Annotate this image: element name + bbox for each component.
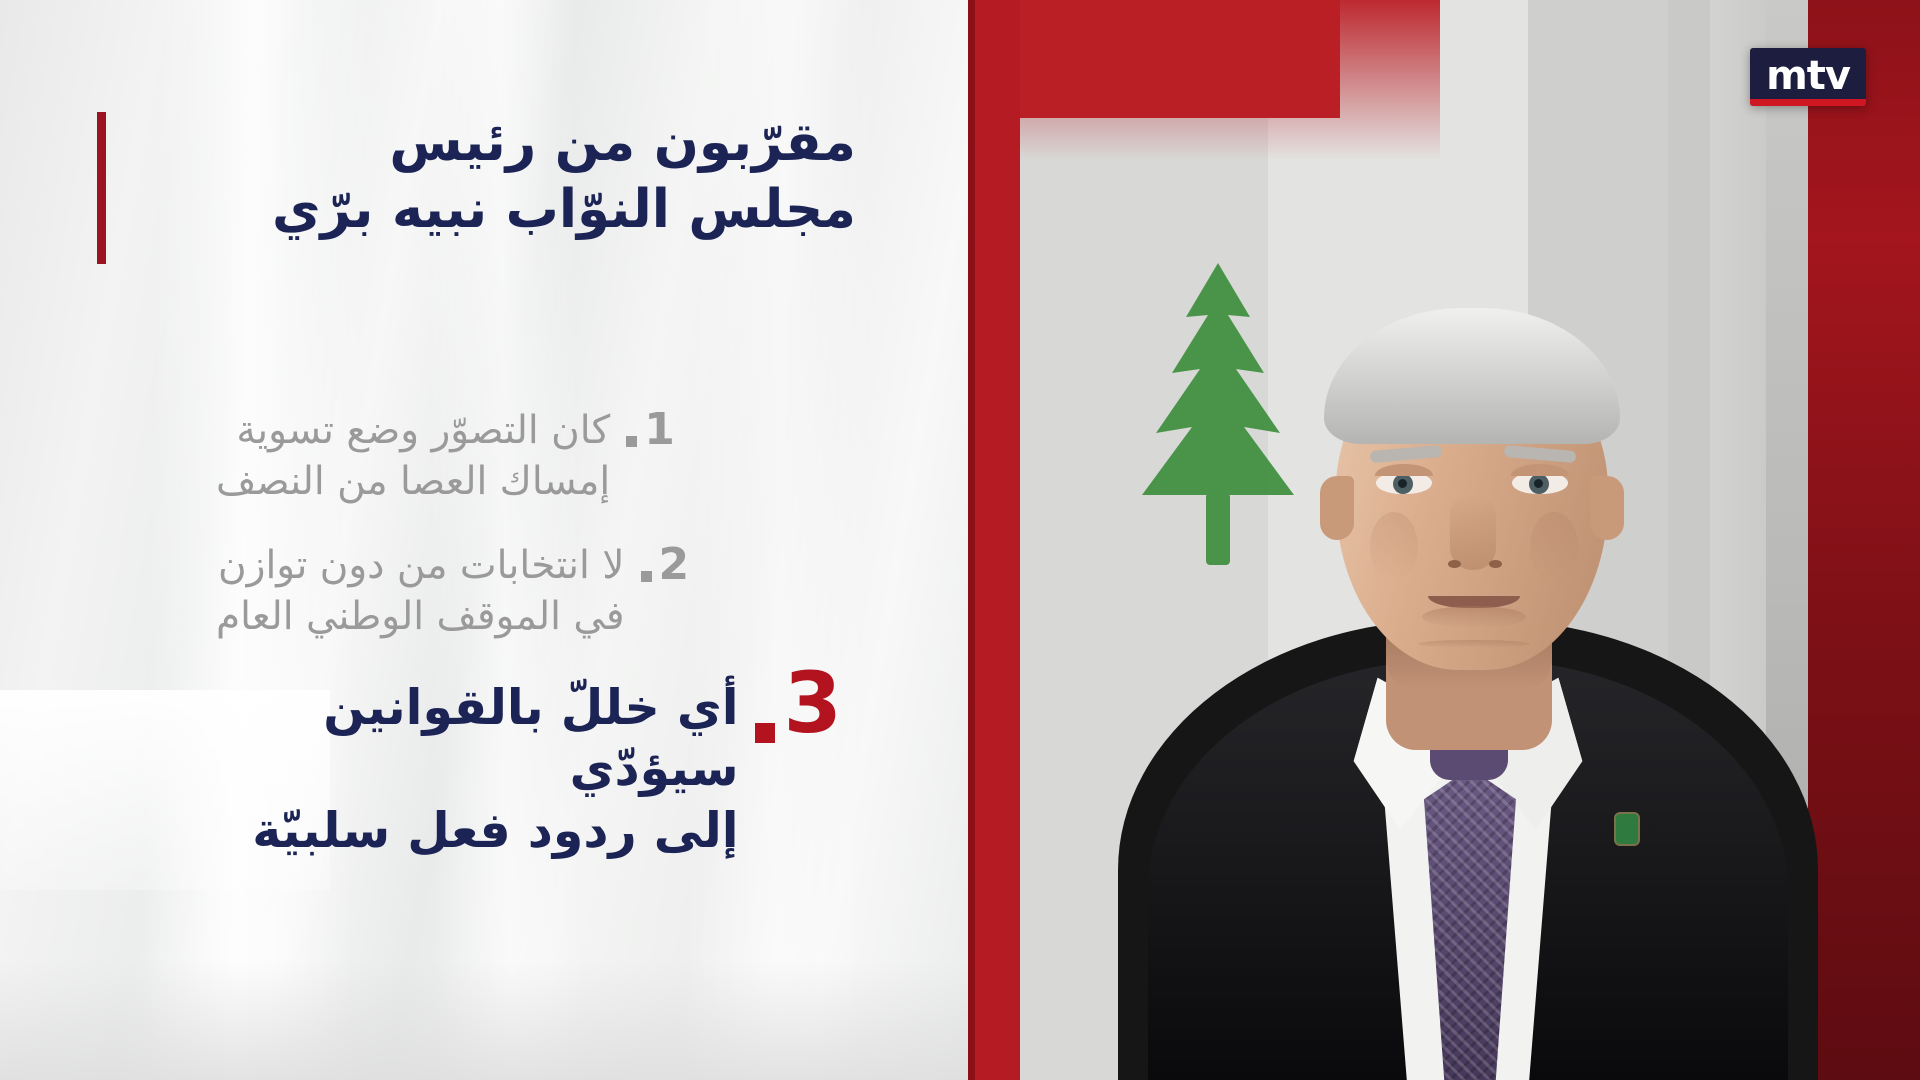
point-text: كان التصوّر وضع تسوية إمساك العصا من الن…: [216, 406, 610, 507]
graphics-panel: مقرّبون من رئيس مجلس النوّاب نبيه برّي 1…: [0, 0, 968, 1080]
photo-edge-accent: [968, 0, 975, 1080]
wall-red-band: [1808, 0, 1920, 1080]
headline-block: مقرّبون من رئيس مجلس النوّاب نبيه برّي: [226, 110, 856, 244]
point-text: أي خللّ بالقوانين سيؤدّي إلى ردود فعل سل…: [216, 677, 739, 862]
headline-accent-rule: [97, 112, 106, 264]
ear-right: [1590, 476, 1624, 540]
nostril-right: [1489, 560, 1502, 568]
points-list: 1 كان التصوّر وضع تسوية إمساك العصا من ا…: [216, 406, 856, 862]
cheek-right: [1530, 512, 1578, 582]
point-marker: 2: [641, 541, 690, 587]
broadcast-frame: مقرّبون من رئيس مجلس النوّاب نبيه برّي 1…: [0, 0, 1920, 1080]
point-marker: 1: [626, 406, 675, 452]
list-item-active[interactable]: 3 أي خللّ بالقوانين سيؤدّي إلى ردود فعل …: [216, 677, 856, 862]
nostril-left: [1448, 560, 1461, 568]
point-text: لا انتخابات من دون توازن في الموقف الوطن…: [216, 541, 625, 642]
panel-bottom-shade-decoration: [0, 960, 968, 1080]
point-square-icon: [755, 723, 775, 743]
mtv-logo-text: mtv: [1766, 56, 1850, 96]
chin-shading: [1418, 640, 1530, 648]
page-title: مقرّبون من رئيس مجلس النوّاب نبيه برّي: [226, 110, 856, 244]
point-number: 1: [644, 408, 675, 452]
point-square-icon: [641, 571, 652, 582]
nose: [1450, 494, 1496, 570]
mouth-shading: [1422, 606, 1526, 628]
mtv-channel-logo: mtv: [1750, 48, 1866, 106]
point-square-icon: [626, 436, 637, 447]
cheek-left: [1370, 512, 1418, 582]
list-item[interactable]: 2 لا انتخابات من دون توازن في الموقف الو…: [216, 541, 856, 642]
point-number: 2: [659, 543, 690, 587]
lapel-pin-icon: [1616, 814, 1638, 844]
ear-left: [1320, 476, 1354, 540]
photo-stage: mtv: [968, 0, 1920, 1080]
iris-left: [1393, 474, 1413, 494]
mtv-logo-red-bar: [1750, 99, 1866, 106]
iris-right: [1529, 474, 1549, 494]
portrait-subject: [1118, 70, 1818, 1080]
point-marker: 3: [755, 677, 842, 743]
hair-shading: [1324, 308, 1620, 444]
list-item[interactable]: 1 كان التصوّر وضع تسوية إمساك العصا من ا…: [216, 406, 856, 507]
point-number: 3: [784, 665, 842, 742]
